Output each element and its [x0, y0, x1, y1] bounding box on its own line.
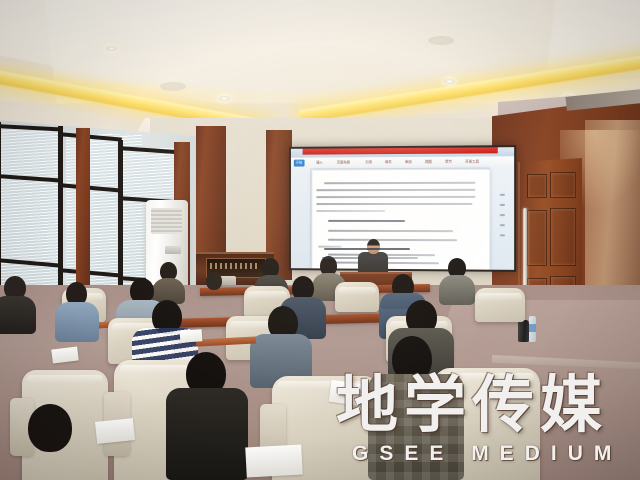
thermos-flask	[518, 320, 529, 342]
paper-document	[180, 329, 203, 343]
door-panel	[527, 174, 547, 198]
presenter-head	[367, 239, 380, 254]
screen-left-rail	[291, 168, 311, 268]
paper-document	[95, 418, 135, 444]
document-text-line	[316, 210, 385, 212]
conference-chair[interactable]	[335, 282, 379, 312]
conference-chair[interactable]	[475, 288, 525, 322]
rail-marker	[500, 204, 505, 206]
ceiling-speaker-grill	[428, 36, 454, 45]
person-head	[28, 404, 72, 452]
document-text-line	[324, 182, 475, 184]
person-torso	[55, 302, 99, 342]
paper-document	[245, 445, 302, 478]
projection-screen-frame: 开始 插入 页面布局 引用 邮件 审阅 视图 章节 开发工具	[289, 145, 516, 272]
door-panel	[527, 210, 547, 266]
console-detail-trim	[210, 263, 260, 269]
ribbon-toolbar[interactable]	[291, 156, 514, 169]
ribbon-tab[interactable]: 插入	[316, 159, 323, 166]
ribbon-tab[interactable]: 视图	[425, 159, 432, 166]
person-torso-plaid-jacket	[368, 374, 464, 480]
document-text-line	[316, 189, 475, 191]
rail-marker	[500, 194, 505, 196]
ribbon-tab[interactable]: 邮件	[385, 159, 392, 166]
door-panel	[550, 172, 576, 198]
document-list-line	[328, 230, 453, 232]
ribbon-tab[interactable]: 页面布局	[337, 159, 350, 166]
person-torso	[439, 275, 475, 305]
downlight	[106, 46, 117, 51]
ribbon-tab[interactable]: 审阅	[405, 159, 412, 166]
ribbon-tab[interactable]: 章节	[445, 159, 452, 166]
ribbon-tab[interactable]: 引用	[365, 159, 372, 166]
door-panel	[550, 208, 576, 266]
air-conditioner-display	[165, 246, 181, 254]
document-heading-line	[328, 220, 405, 223]
ribbon-tab-active[interactable]: 开始	[294, 160, 304, 167]
rail-marker	[500, 224, 505, 226]
photo-scene: 开始 插入 页面布局 引用 邮件 审阅 视图 章节 开发工具	[0, 0, 640, 480]
document-page	[312, 170, 489, 270]
ceiling-speaker-grill	[160, 82, 186, 91]
water-bottle-label	[529, 324, 536, 332]
document-text-line	[322, 257, 418, 259]
downlight	[444, 79, 455, 84]
document-text-line	[316, 196, 475, 198]
titlebar-accent	[303, 147, 498, 154]
person-torso	[0, 296, 36, 334]
document-text-line	[316, 203, 472, 205]
paper-document	[329, 380, 366, 407]
ribbon-tab[interactable]: 开发工具	[465, 159, 479, 166]
document-list-line	[328, 239, 457, 242]
rail-marker	[500, 214, 505, 216]
projection-screen[interactable]: 开始 插入 页面布局 引用 邮件 审阅 视图 章节 开发工具	[291, 147, 514, 270]
screen-right-rail	[489, 167, 515, 269]
air-conditioner-vent	[151, 208, 182, 234]
person-head	[206, 272, 222, 290]
wood-wall-panel	[196, 126, 226, 256]
rail-marker	[500, 234, 505, 236]
person-torso	[166, 388, 248, 480]
downlight	[219, 96, 230, 101]
